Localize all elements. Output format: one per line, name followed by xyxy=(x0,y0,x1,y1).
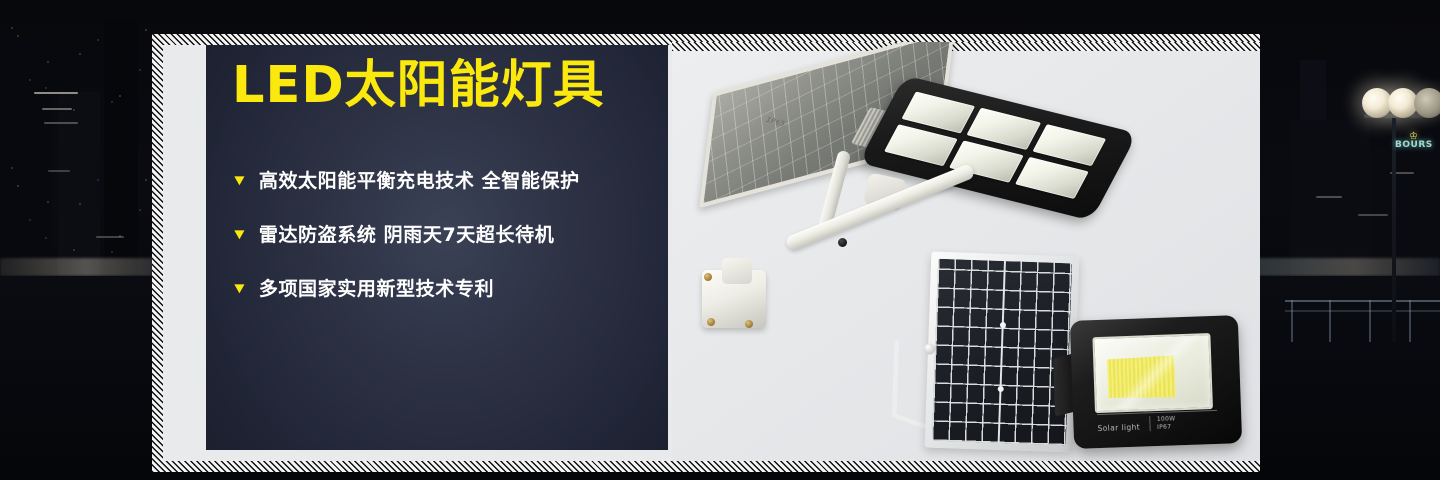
railing-post xyxy=(1291,300,1293,342)
radar-sensor-icon xyxy=(838,238,847,247)
solar-street-light-product: IP65 xyxy=(682,52,1152,352)
headline-panel: LED太阳能灯具 ▼ 高效太阳能平衡充电技术 全智能保护 ▼ 雷达防盗系统 阴雨… xyxy=(206,45,668,450)
feature-text: 高效太阳能平衡充电技术 全智能保护 xyxy=(259,170,580,193)
solar-flood-light-product: Solar light 100W IP67 xyxy=(1070,315,1242,449)
page-title: LED太阳能灯具 xyxy=(232,57,605,116)
window-light-band xyxy=(44,122,78,124)
flood-light-label: Solar light 100W IP67 xyxy=(1097,410,1218,433)
neon-sign: ♔ BOURS xyxy=(1395,140,1440,158)
led-module xyxy=(884,124,958,166)
feature-text: 多项国家实用新型技术专利 xyxy=(259,278,494,301)
railing-post xyxy=(1329,300,1331,342)
flood-light-lens xyxy=(1092,333,1213,413)
standalone-solar-panel-product xyxy=(925,251,1080,452)
flood-light-brand-text: Solar light xyxy=(1097,423,1140,433)
flood-light-housing: Solar light 100W IP67 xyxy=(1070,315,1242,449)
window-light-band xyxy=(1316,196,1342,198)
flood-light-ip: IP67 xyxy=(1157,423,1171,430)
window-light-band xyxy=(34,92,78,94)
window-light-band xyxy=(42,108,72,110)
window-light-band xyxy=(96,236,124,238)
led-module-grid xyxy=(884,91,1106,198)
list-item: ▼ 多项国家实用新型技术专利 xyxy=(232,278,662,301)
triangle-bullet-icon: ▼ xyxy=(231,225,248,245)
lens-reflection xyxy=(1097,337,1209,409)
street-lamp-icon xyxy=(1352,82,1438,342)
panel-top-hatch-strip xyxy=(672,42,1260,51)
feature-text: 雷达防盗系统 阴雨天7天超长待机 xyxy=(259,224,554,247)
bracket-bolt xyxy=(704,273,712,281)
crown-icon: ♔ xyxy=(1409,131,1418,142)
product-image-panel: IP65 Solar light xyxy=(672,42,1260,461)
triangle-bullet-icon: ▼ xyxy=(231,279,248,299)
list-item: ▼ 雷达防盗系统 阴雨天7天超长待机 xyxy=(232,224,662,247)
solar-panel-frame xyxy=(925,251,1080,452)
lamp-globe xyxy=(1414,88,1440,118)
flood-light-watt: 100W xyxy=(1157,415,1176,423)
led-module xyxy=(1015,157,1089,199)
triangle-bullet-icon: ▼ xyxy=(231,171,248,191)
bracket-bolt xyxy=(745,320,753,328)
bracket-bolt xyxy=(707,318,715,326)
list-item: ▼ 高效太阳能平衡充电技术 全智能保护 xyxy=(232,170,662,193)
window-light-band xyxy=(48,170,70,172)
flood-light-spec-text: 100W IP67 xyxy=(1149,415,1176,431)
feature-list: ▼ 高效太阳能平衡充电技术 全智能保护 ▼ 雷达防盗系统 阴雨天7天超长待机 ▼… xyxy=(232,170,662,331)
